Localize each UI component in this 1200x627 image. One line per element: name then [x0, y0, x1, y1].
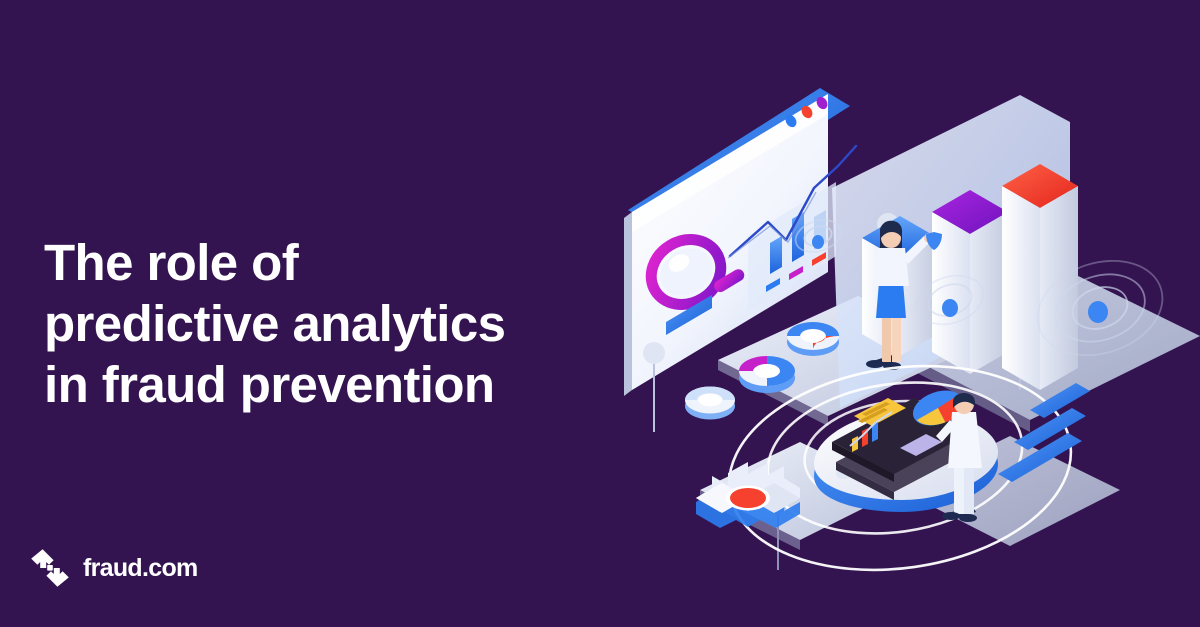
donut-chart-pale	[685, 387, 735, 420]
brand-logo[interactable]: fraud.com	[30, 548, 198, 588]
headline-line-2: predictive analytics	[44, 293, 644, 354]
donut-chart-magenta	[739, 356, 795, 393]
isometric-predictive-analytics-illustration	[600, 60, 1200, 600]
logo-wordmark: fraud.com	[83, 556, 198, 581]
radar-node-b	[1088, 301, 1108, 323]
page-title: The role of predictive analytics in frau…	[44, 232, 644, 415]
radar-node-a	[942, 299, 958, 317]
headline-line-3: in fraud prevention	[44, 354, 644, 415]
banner-root: The role of predictive analytics in frau…	[0, 0, 1200, 627]
isometric-bar-red	[1002, 164, 1078, 390]
radar-node-c	[812, 235, 824, 249]
fraud-com-diamond-mark-icon	[30, 548, 70, 588]
isometric-bar-purple	[932, 190, 1008, 374]
donut-chart-blue-red	[787, 322, 839, 356]
headline-line-1: The role of	[44, 232, 644, 293]
